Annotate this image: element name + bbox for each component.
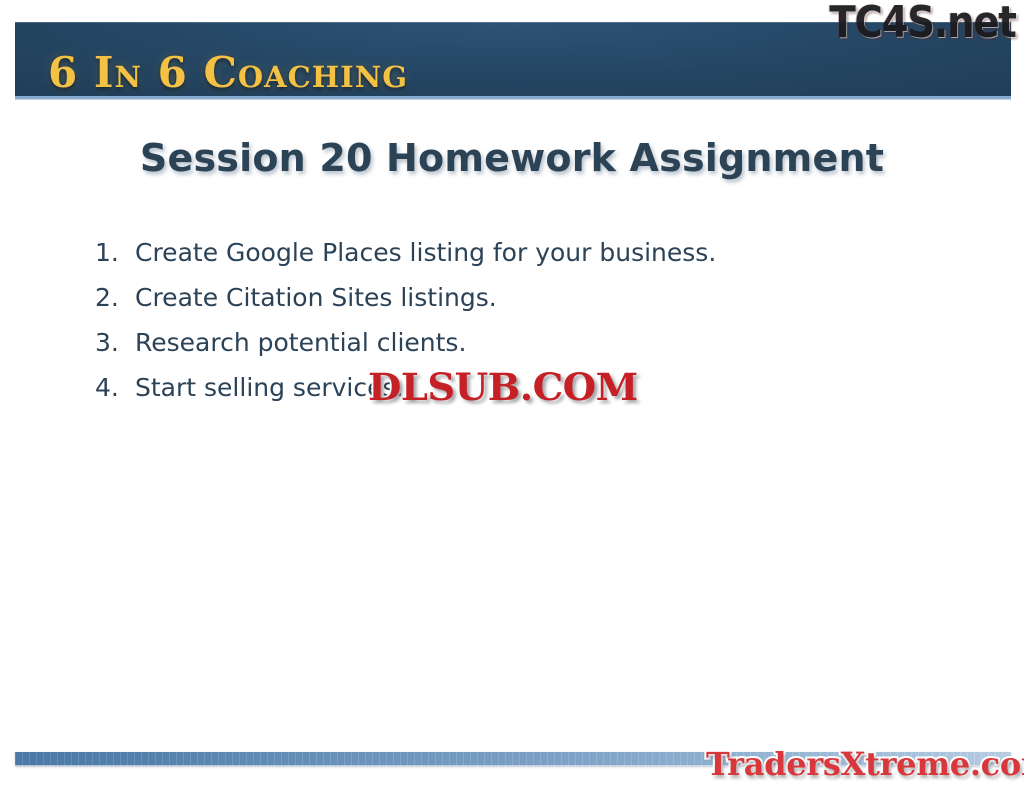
list-item-label: Create Google Places listing for your bu… bbox=[135, 238, 716, 267]
list-item-number: 2. bbox=[95, 283, 135, 312]
watermark-tc4s: TC4S.net bbox=[830, 0, 1016, 48]
list-item-label: Start selling services. bbox=[135, 373, 403, 402]
list-item-number: 3. bbox=[95, 328, 135, 357]
watermark-tradersxtreme: TradersXtreme.com bbox=[706, 744, 1024, 784]
page-title: Session 20 Homework Assignment bbox=[0, 136, 1024, 180]
list-item-number: 1. bbox=[95, 238, 135, 267]
list-item: 2. Create Citation Sites listings. bbox=[95, 283, 935, 328]
header-banner-underline bbox=[15, 96, 1011, 100]
watermark-dlsub: DLSUB.COM bbox=[368, 366, 638, 410]
banner-title: 6 In 6 Coaching bbox=[48, 52, 408, 94]
list-item-label: Create Citation Sites listings. bbox=[135, 283, 497, 312]
list-item-number: 4. bbox=[95, 373, 135, 402]
slide-canvas: 6 In 6 Coaching TC4S.net Session 20 Home… bbox=[0, 0, 1024, 791]
list-item: 1. Create Google Places listing for your… bbox=[95, 238, 935, 283]
list-item-label: Research potential clients. bbox=[135, 328, 466, 357]
